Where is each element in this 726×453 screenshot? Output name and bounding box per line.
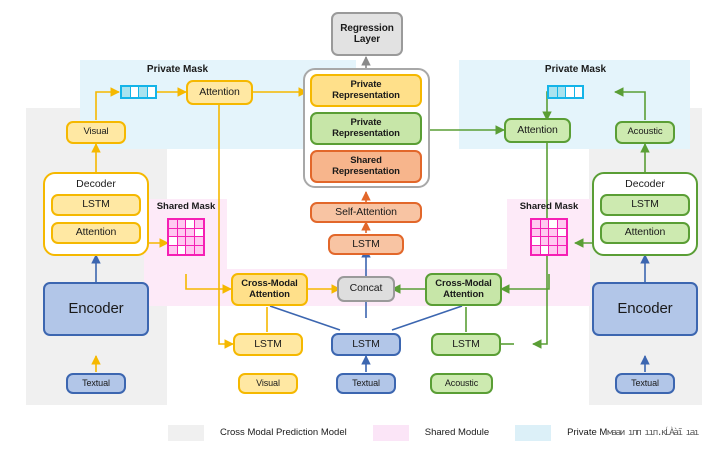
left-encoder-label: Encoder bbox=[68, 301, 123, 318]
legend-label-cross-modal: Cross Modal Prediction Model bbox=[220, 427, 347, 438]
right-cross-modal-attention-box[interactable]: Cross-ModalAttention bbox=[425, 273, 502, 306]
right-modality-label: Acoustic bbox=[445, 378, 478, 388]
shared-representation-box[interactable]: SharedRepresentation bbox=[310, 150, 422, 183]
legend-label-shared: Shared Module bbox=[425, 427, 489, 438]
right-decoder-title: Decoder bbox=[594, 178, 696, 190]
right-cross-modal-attention-label: Cross-ModalAttention bbox=[435, 279, 491, 300]
center-lstm-label: LSTM bbox=[352, 339, 380, 351]
region-cross-modal-right bbox=[589, 108, 702, 405]
right-acoustic-box[interactable]: Acoustic bbox=[615, 121, 675, 144]
left-visual-label: Visual bbox=[83, 127, 108, 138]
left-textual-box[interactable]: Textual bbox=[66, 373, 126, 394]
right-lstm-label: LSTM bbox=[452, 339, 480, 351]
right-lstm-box[interactable]: LSTM bbox=[431, 333, 501, 356]
left-textual-label: Textual bbox=[82, 378, 110, 388]
left-decoder-title: Decoder bbox=[45, 178, 147, 190]
left-cross-modal-attention-box[interactable]: Cross-ModalAttention bbox=[231, 273, 308, 306]
concat-label: Concat bbox=[350, 283, 383, 295]
right-attention-box[interactable]: Attention bbox=[504, 118, 571, 143]
legend-swatch-shared bbox=[373, 425, 409, 441]
center-lstm-orange-box[interactable]: LSTM bbox=[328, 234, 404, 255]
left-cross-modal-attention-label: Cross-ModalAttention bbox=[241, 279, 297, 300]
legend-swatch-private bbox=[515, 425, 551, 441]
legend-label-private-garbled: мааи ıпп ııп.ĸĹÀàĩ ıаı bbox=[607, 427, 698, 437]
self-attention-box[interactable]: Self-Attention bbox=[310, 202, 422, 223]
left-decoder-attention-box[interactable]: Attention bbox=[51, 222, 141, 244]
center-lstm-box[interactable]: LSTM bbox=[331, 333, 401, 356]
center-textual-label: Textual bbox=[352, 378, 380, 388]
left-attention-box[interactable]: Attention bbox=[186, 80, 253, 105]
right-textual-label: Textual bbox=[631, 378, 659, 388]
right-decoder-lstm-label: LSTM bbox=[631, 199, 659, 211]
left-shared-mask-caption: Shared Mask bbox=[146, 201, 226, 212]
legend-label-private-text: Private M bbox=[567, 427, 607, 438]
right-encoder-box[interactable]: Encoder bbox=[592, 282, 698, 336]
left-encoder-box[interactable]: Encoder bbox=[43, 282, 149, 336]
right-decoder-attention-label: Attention bbox=[625, 227, 666, 239]
private-representation-acoustic-label: PrivateRepresentation bbox=[332, 118, 400, 139]
right-private-mask[interactable] bbox=[547, 85, 584, 99]
regression-layer-box[interactable]: RegressionLayer bbox=[331, 12, 403, 56]
center-textual-box[interactable]: Textual bbox=[336, 373, 396, 394]
left-lstm-box[interactable]: LSTM bbox=[233, 333, 303, 356]
right-decoder-lstm-box[interactable]: LSTM bbox=[600, 194, 690, 216]
diagram-canvas: RegressionLayer PrivateRepresentation Pr… bbox=[0, 0, 726, 453]
private-representation-visual-label: PrivateRepresentation bbox=[332, 80, 400, 101]
private-representation-acoustic-box[interactable]: PrivateRepresentation bbox=[310, 112, 422, 145]
right-shared-mask-caption: Shared Mask bbox=[509, 201, 589, 212]
self-attention-label: Self-Attention bbox=[335, 207, 397, 219]
legend-item-cross-modal: Cross Modal Prediction Model bbox=[168, 425, 347, 441]
right-private-mask-caption: Private Mask bbox=[498, 64, 653, 75]
concat-box[interactable]: Concat bbox=[337, 276, 395, 302]
legend: Cross Modal Prediction Model Shared Modu… bbox=[0, 412, 726, 453]
left-lstm-label: LSTM bbox=[254, 339, 282, 351]
legend-item-private: Private Mмааи ıпп ııп.ĸĹÀàĩ ıаı bbox=[515, 425, 698, 441]
left-private-mask-caption: Private Mask bbox=[100, 64, 255, 75]
right-acoustic-label: Acoustic bbox=[627, 127, 662, 138]
left-modality-label: Visual bbox=[256, 378, 280, 388]
center-lstm-orange-label: LSTM bbox=[352, 239, 380, 251]
regression-layer-label: RegressionLayer bbox=[340, 23, 393, 45]
right-decoder-attention-box[interactable]: Attention bbox=[600, 222, 690, 244]
left-visual-box[interactable]: Visual bbox=[66, 121, 126, 144]
left-private-mask[interactable] bbox=[120, 85, 157, 99]
legend-label-private: Private Mмааи ıпп ııп.ĸĹÀàĩ ıаı bbox=[567, 427, 698, 438]
right-encoder-label: Encoder bbox=[617, 301, 672, 318]
legend-item-shared: Shared Module bbox=[373, 425, 489, 441]
left-modality-box[interactable]: Visual bbox=[238, 373, 298, 394]
right-modality-box[interactable]: Acoustic bbox=[430, 373, 493, 394]
left-shared-mask[interactable] bbox=[167, 218, 205, 256]
left-decoder-lstm-box[interactable]: LSTM bbox=[51, 194, 141, 216]
left-decoder-lstm-label: LSTM bbox=[82, 199, 110, 211]
legend-swatch-cross-modal bbox=[168, 425, 204, 441]
left-attention-label: Attention bbox=[199, 87, 240, 99]
right-attention-label: Attention bbox=[517, 125, 558, 137]
right-textual-box[interactable]: Textual bbox=[615, 373, 675, 394]
shared-representation-label: SharedRepresentation bbox=[332, 156, 400, 177]
right-shared-mask[interactable] bbox=[530, 218, 568, 256]
left-decoder-attention-label: Attention bbox=[76, 227, 117, 239]
private-representation-visual-box[interactable]: PrivateRepresentation bbox=[310, 74, 422, 107]
